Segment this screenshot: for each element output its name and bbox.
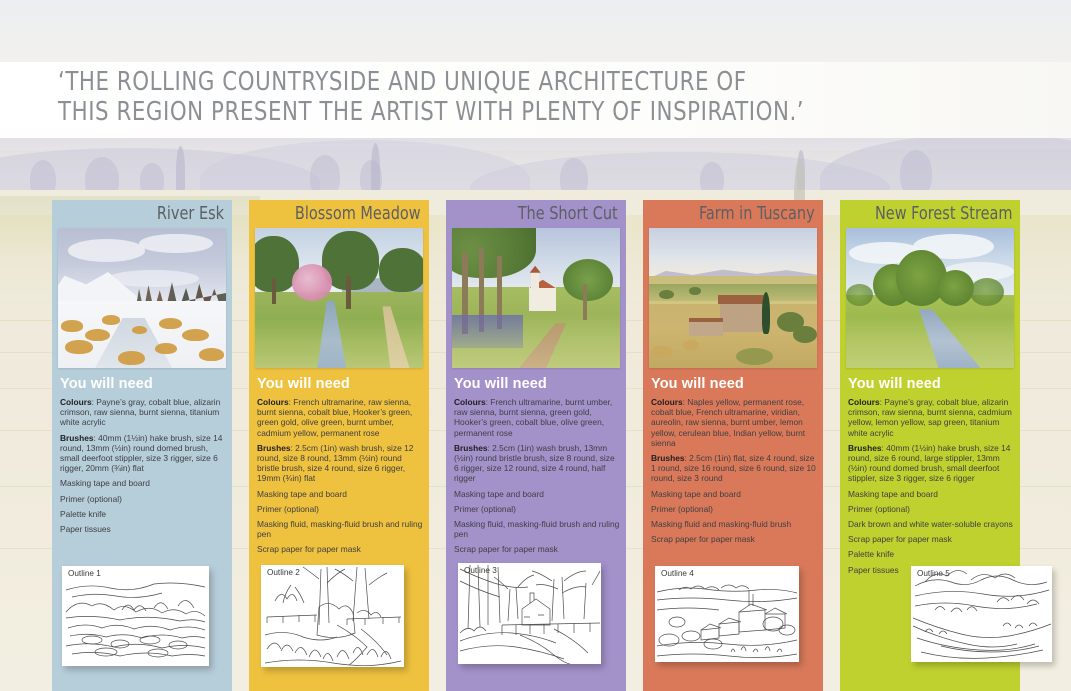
- extra-item: Scrap paper for paper mask: [848, 534, 1014, 544]
- extra-item: Masking tape and board: [848, 489, 1014, 499]
- outline-label: Outline 3: [464, 566, 497, 575]
- extra-item: Dark brown and white water-soluble crayo…: [848, 519, 1014, 529]
- extra-item: Primer (optional): [60, 494, 226, 504]
- brushes-line: Brushes: 2.5cm (1in) wash brush, 13mm (½…: [454, 443, 620, 484]
- outline-thumbnail-4[interactable]: Outline 4: [655, 566, 799, 662]
- artwork-the-short-cut: [452, 228, 620, 368]
- painting-thumbnail-blossom-meadow[interactable]: [255, 228, 423, 368]
- outline-sketch-5: [911, 566, 1052, 662]
- quote-line-2: THIS REGION PRESENT THE ARTIST WITH PLEN…: [58, 98, 951, 128]
- colours-line: Colours: Payne’s gray, cobalt blue, aliz…: [848, 397, 1014, 438]
- card-title: New Forest Stream: [874, 203, 1012, 225]
- materials-list: Colours: French ultramarine, raw sienna,…: [257, 397, 423, 560]
- outline-thumbnail-1[interactable]: Outline 1: [62, 566, 209, 666]
- card-header: New Forest Stream: [840, 200, 1020, 228]
- colours-line: Colours: Payne’s gray, cobalt blue, aliz…: [60, 397, 226, 428]
- extra-item: Masking tape and board: [60, 478, 226, 488]
- outline-sketch-1: [62, 566, 209, 666]
- extra-item: Scrap paper for paper mask: [257, 544, 423, 554]
- materials-list: Colours: Payne’s gray, cobalt blue, aliz…: [60, 397, 226, 539]
- extra-item: Masking fluid, masking-fluid brush and r…: [454, 519, 620, 539]
- extra-item: Masking tape and board: [454, 489, 620, 499]
- brushes-label: Brushes: [60, 433, 94, 443]
- card-title: Farm in Tuscany: [699, 203, 815, 225]
- card-header: Farm in Tuscany: [643, 200, 823, 228]
- card-title: River Esk: [157, 203, 224, 225]
- card-header: River Esk: [52, 200, 232, 228]
- extra-item: Scrap paper for paper mask: [651, 534, 817, 544]
- materials-list: Colours: Payne’s gray, cobalt blue, aliz…: [848, 397, 1014, 580]
- extra-item: Masking tape and board: [257, 489, 423, 499]
- extra-item: Primer (optional): [454, 504, 620, 514]
- quote-line-1: ‘THE ROLLING COUNTRYSIDE AND UNIQUE ARCH…: [58, 68, 951, 98]
- extra-item: Masking fluid and masking-fluid brush: [651, 519, 817, 529]
- painting-thumbnail-farm-in-tuscany[interactable]: [649, 228, 817, 368]
- artwork-new-forest-stream: [846, 228, 1014, 368]
- materials-list: Colours: French ultramarine, burnt umber…: [454, 397, 620, 560]
- extra-item: Primer (optional): [848, 504, 1014, 514]
- brushes-line: Brushes: 40mm (1½in) hake brush, size 14…: [848, 443, 1014, 484]
- extra-item: Palette knife: [848, 549, 1014, 559]
- outline-thumbnail-2[interactable]: Outline 2: [261, 565, 404, 667]
- brushes-line: Brushes: 2.5cm (1in) wash brush, size 12…: [257, 443, 423, 484]
- outline-label: Outline 4: [661, 569, 694, 578]
- extra-item: Primer (optional): [651, 504, 817, 514]
- artwork-river-esk: [58, 228, 226, 368]
- extra-item: Scrap paper for paper mask: [454, 544, 620, 554]
- colours-label: Colours: [454, 397, 486, 407]
- you-will-need-heading: You will need: [651, 376, 744, 392]
- brushes-label: Brushes: [651, 453, 685, 463]
- colours-line: Colours: French ultramarine, burnt umber…: [454, 397, 620, 438]
- project-card-blossom-meadow[interactable]: Blossom Meadow You will need Colours: Fr…: [249, 200, 429, 691]
- project-card-river-esk[interactable]: River Esk You will need Colours: Payne’s…: [52, 200, 232, 691]
- you-will-need-heading: You will need: [60, 376, 153, 392]
- extra-item: Masking tape and board: [651, 489, 817, 499]
- card-title: Blossom Meadow: [295, 203, 421, 225]
- colours-label: Colours: [848, 397, 880, 407]
- artwork-blossom-meadow: [255, 228, 423, 368]
- brushes-label: Brushes: [848, 443, 882, 453]
- colours-label: Colours: [257, 397, 289, 407]
- brushes-line: Brushes: 2.5cm (1in) flat, size 4 round,…: [651, 453, 817, 484]
- outline-thumbnail-3[interactable]: Outline 3: [458, 563, 601, 664]
- you-will-need-heading: You will need: [454, 376, 547, 392]
- brushes-label: Brushes: [454, 443, 488, 453]
- painting-thumbnail-river-esk[interactable]: [58, 228, 226, 368]
- materials-list: Colours: Naples yellow, permanent rose, …: [651, 397, 817, 549]
- extra-item: Paper tissues: [60, 524, 226, 534]
- brushes-line: Brushes: 40mm (1½in) hake brush, size 14…: [60, 433, 226, 474]
- outline-label: Outline 1: [68, 569, 101, 578]
- colours-line: Colours: French ultramarine, raw sienna,…: [257, 397, 423, 438]
- extra-item: Primer (optional): [257, 504, 423, 514]
- project-card-the-short-cut[interactable]: The Short Cut You will need Colours: Fre…: [446, 200, 626, 691]
- colours-label: Colours: [651, 397, 683, 407]
- card-header: Blossom Meadow: [249, 200, 429, 228]
- card-title: The Short Cut: [518, 203, 618, 225]
- colours-line: Colours: Naples yellow, permanent rose, …: [651, 397, 817, 448]
- you-will-need-heading: You will need: [257, 376, 350, 392]
- painting-thumbnail-new-forest-stream[interactable]: [846, 228, 1014, 368]
- outline-sketch-4: [655, 566, 799, 662]
- extra-item: Palette knife: [60, 509, 226, 519]
- card-header: The Short Cut: [446, 200, 626, 228]
- painting-thumbnail-the-short-cut[interactable]: [452, 228, 620, 368]
- outline-label: Outline 2: [267, 568, 300, 577]
- outline-thumbnail-5[interactable]: Outline 5: [911, 566, 1052, 662]
- colours-label: Colours: [60, 397, 92, 407]
- artwork-farm-in-tuscany: [649, 228, 817, 368]
- outline-sketch-2: [261, 565, 404, 667]
- brushes-label: Brushes: [257, 443, 291, 453]
- extra-item: Masking fluid, masking-fluid brush and r…: [257, 519, 423, 539]
- pull-quote: ‘THE ROLLING COUNTRYSIDE AND UNIQUE ARCH…: [58, 68, 1018, 127]
- outline-sketch-3: [458, 563, 601, 664]
- outline-label: Outline 5: [917, 569, 950, 578]
- project-card-farm-in-tuscany[interactable]: Farm in Tuscany You will need Colours: N…: [643, 200, 823, 691]
- you-will-need-heading: You will need: [848, 376, 941, 392]
